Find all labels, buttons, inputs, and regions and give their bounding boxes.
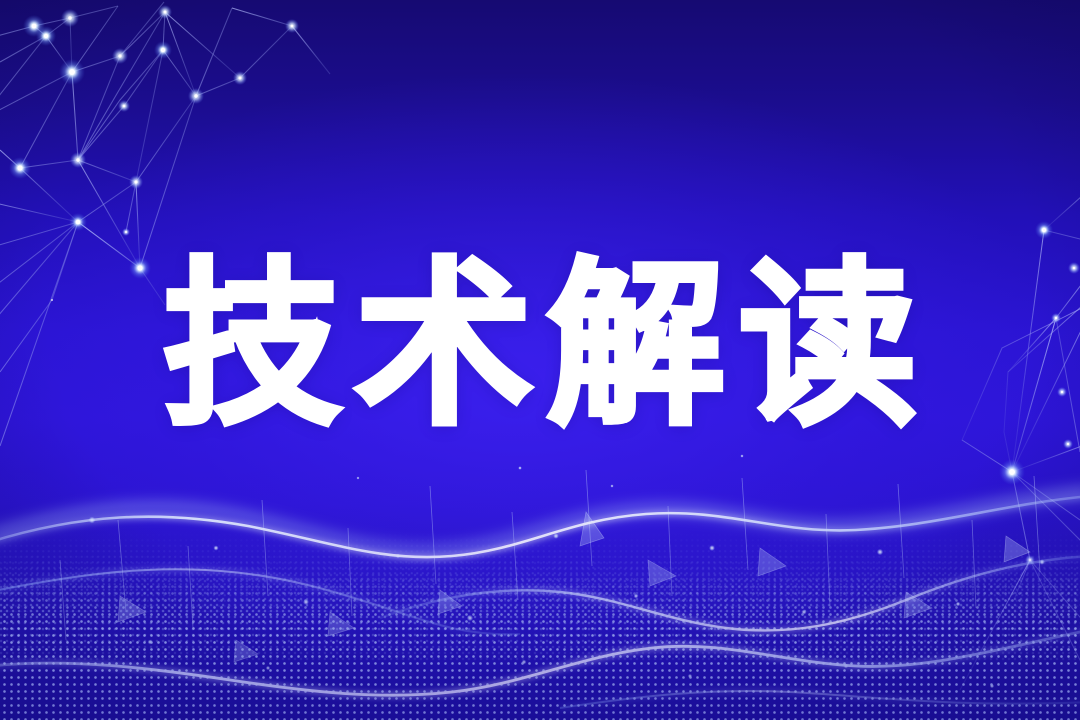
mesh-color-tint [0,470,1080,720]
particle-wave-mesh [0,470,1080,720]
banner-headline: 技术解读 [149,257,931,435]
headline-container: 技术解读 [0,238,1080,453]
tech-banner: 技术解读 [0,0,1080,720]
